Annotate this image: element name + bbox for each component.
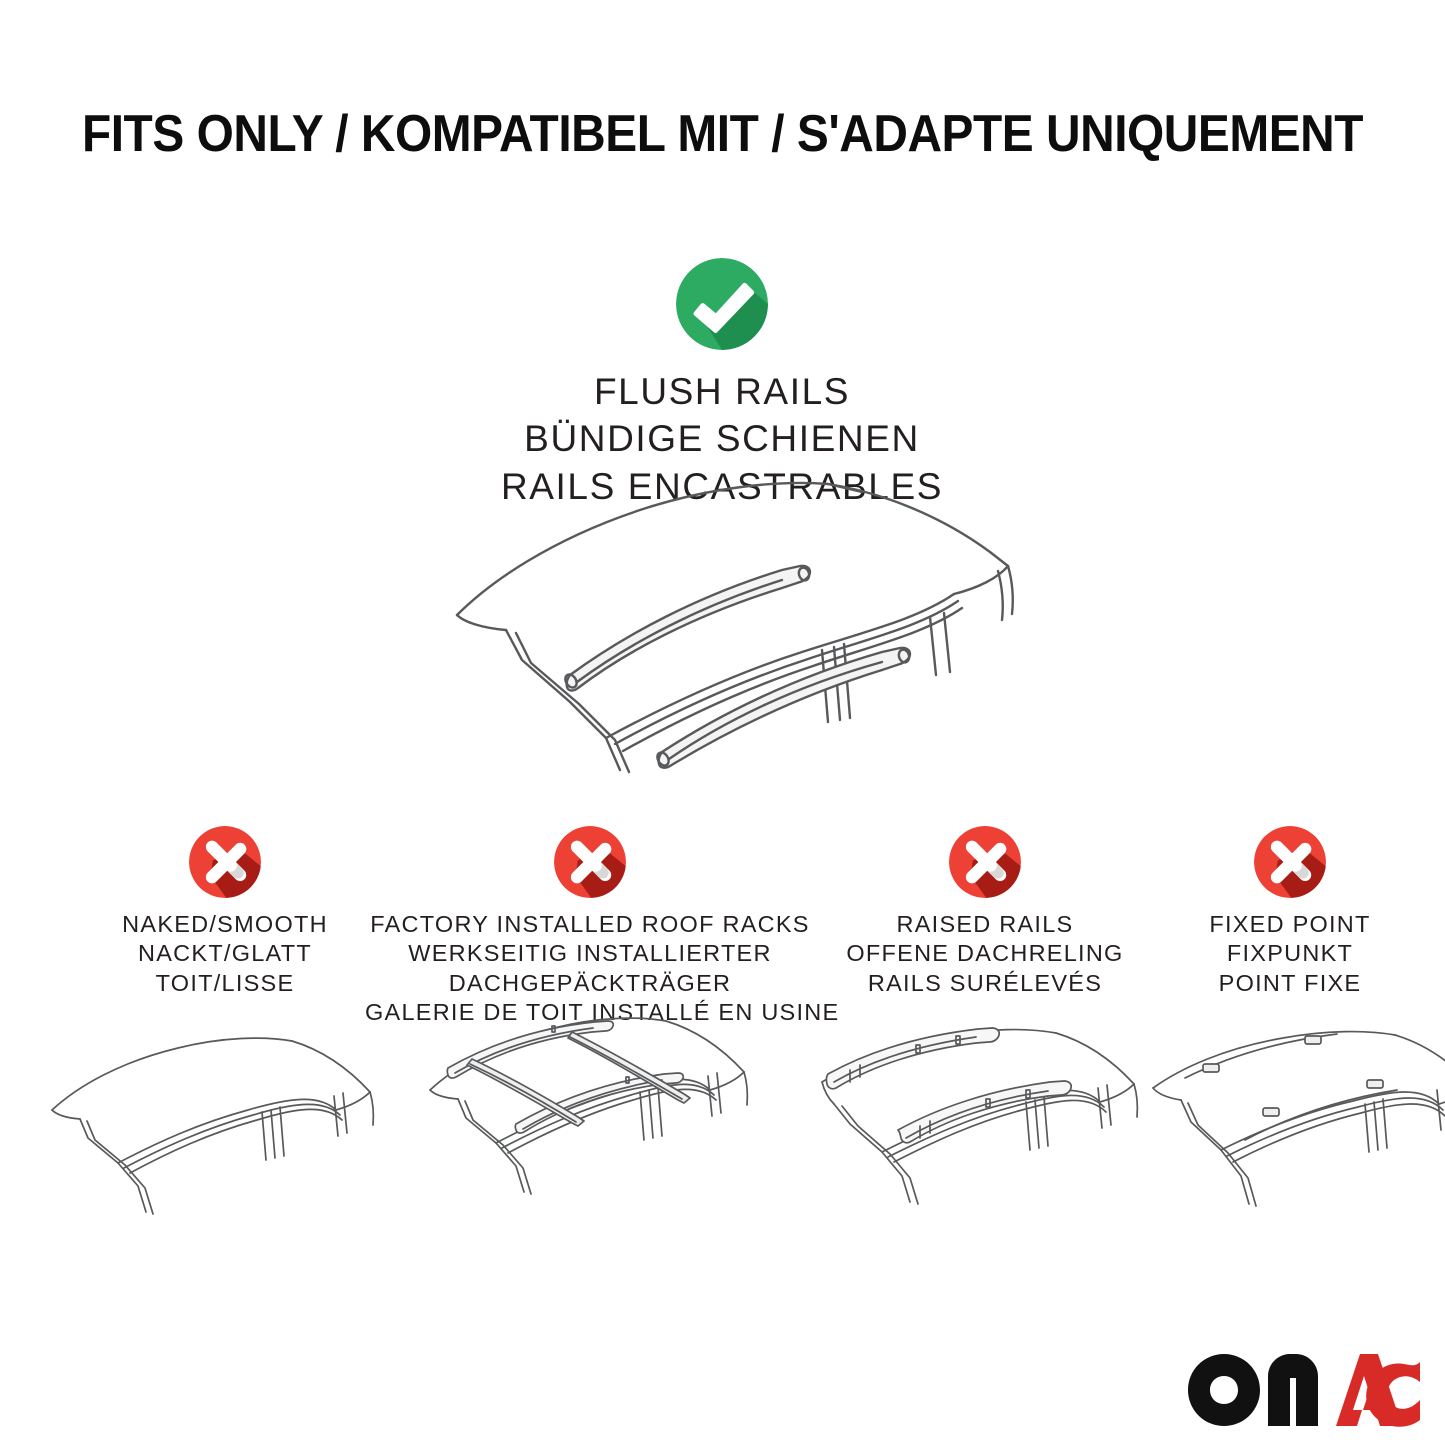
incompatible-option-naked-smooth: NAKED/SMOOTH NACKT/GLATT TOIT/LISSE xyxy=(35,826,415,998)
infographic-page: FITS ONLY / KOMPATIBEL MIT / S'ADAPTE UN… xyxy=(0,0,1445,1445)
illustration-fixed-points xyxy=(1145,1016,1445,1226)
label-line-1: FLUSH RAILS xyxy=(322,368,1122,415)
naked-smooth-labels: NAKED/SMOOTH NACKT/GLATT TOIT/LISSE xyxy=(35,910,415,998)
label-line-3: DACHGEPÄCKTRÄGER xyxy=(365,969,815,998)
omac-logo xyxy=(1186,1352,1422,1428)
label-line-2: OFFENE DACHRELING xyxy=(790,939,1180,968)
label-line-2: WERKSEITIG INSTALLIERTER xyxy=(365,939,815,968)
label-line-3: RAILS SURÉLEVÉS xyxy=(790,969,1180,998)
page-title: FITS ONLY / KOMPATIBEL MIT / S'ADAPTE UN… xyxy=(58,104,1387,164)
incompatible-option-fixed-point: FIXED POINT FIXPUNKT POINT FIXE xyxy=(1130,826,1445,998)
label-line-1: RAISED RAILS xyxy=(790,910,1180,939)
label-line-3: POINT FIXE xyxy=(1130,969,1445,998)
cross-circle-icon xyxy=(1254,826,1326,898)
check-circle-icon xyxy=(676,258,768,350)
illustration-naked-smooth xyxy=(40,1020,380,1230)
incompatible-option-factory-roof-racks: FACTORY INSTALLED ROOF RACKS WERKSEITIG … xyxy=(365,826,815,1028)
label-line-1: FACTORY INSTALLED ROOF RACKS xyxy=(365,910,815,939)
label-line-2: NACKT/GLATT xyxy=(35,939,415,968)
illustration-raised-rails xyxy=(806,1012,1146,1222)
label-line-1: FIXED POINT xyxy=(1130,910,1445,939)
cross-circle-icon xyxy=(189,826,261,898)
label-line-3: TOIT/LISSE xyxy=(35,969,415,998)
cross-circle-icon xyxy=(554,826,626,898)
label-line-1: NAKED/SMOOTH xyxy=(35,910,415,939)
incompatible-option-raised-rails: RAISED RAILS OFFENE DACHRELING RAILS SUR… xyxy=(790,826,1180,998)
raised-rails-labels: RAISED RAILS OFFENE DACHRELING RAILS SUR… xyxy=(790,910,1180,998)
illustration-factory-roof-racks xyxy=(412,1004,752,1214)
illustration-flush-rails xyxy=(430,470,1030,790)
label-line-2: BÜNDIGE SCHIENEN xyxy=(322,415,1122,462)
cross-circle-icon xyxy=(949,826,1021,898)
fixed-point-labels: FIXED POINT FIXPUNKT POINT FIXE xyxy=(1130,910,1445,998)
label-line-2: FIXPUNKT xyxy=(1130,939,1445,968)
